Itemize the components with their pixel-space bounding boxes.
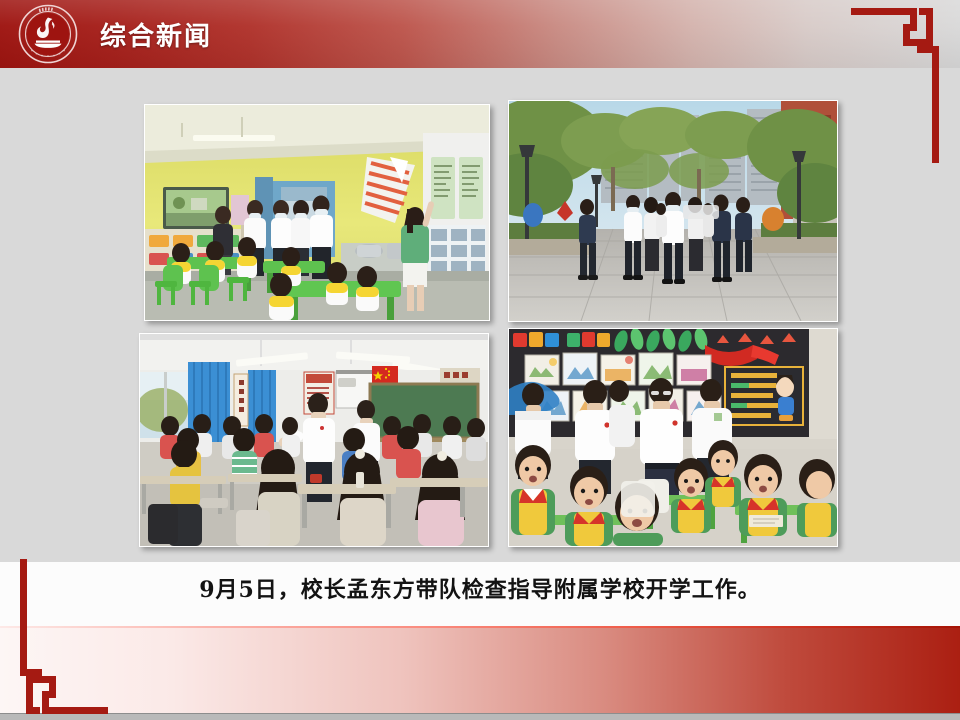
gallery-photo-campus-walkway-inspection[interactable] (508, 100, 838, 322)
gallery-photo-kindergarten-classroom-visit[interactable] (144, 104, 490, 321)
chinese-corner-frame-icon-top-right (851, 8, 947, 163)
gallery-photo-primary-school-classroom-visit[interactable] (508, 328, 838, 547)
university-crest-icon (18, 4, 78, 64)
news-slide: 综合新闻 (0, 0, 960, 720)
bottom-gradient-band (0, 628, 960, 713)
page-header: 综合新闻 (0, 0, 960, 68)
bottom-edge-strip (0, 713, 960, 720)
slide-caption: 9月5日，校长孟东方带队检查指导附属学校开学工作。 (0, 572, 960, 604)
page-title: 综合新闻 (100, 16, 212, 53)
gallery-photo-middle-school-classroom-visit[interactable] (139, 333, 489, 547)
